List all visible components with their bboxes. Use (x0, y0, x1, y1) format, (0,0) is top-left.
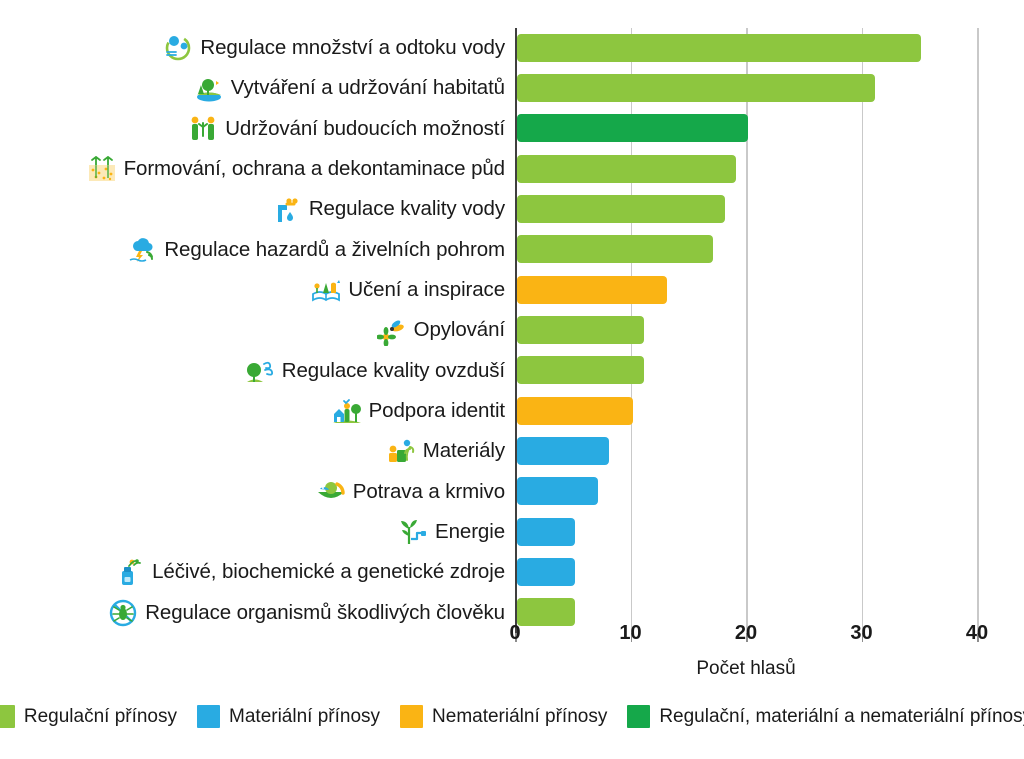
energy-icon (398, 517, 428, 547)
legend-swatch-vse (627, 705, 650, 728)
legend-label-nematerialni: Nemateriální přínosy (432, 706, 607, 728)
category-label-text: Učení a inspirace (348, 280, 505, 301)
category-label-text: Vytváření a udržování habitatů (231, 78, 505, 99)
category-label: Léčivé, biochemické a genetické zdroje (115, 554, 505, 591)
chart-row: Materiály (0, 433, 1024, 470)
chart-row: Regulace organismů škodlivých člověku (0, 594, 1024, 631)
bar[interactable] (517, 437, 609, 465)
category-label: Regulace kvality ovzduší (245, 352, 505, 389)
water-quality-icon (272, 195, 302, 225)
chart-row: Vytváření a udržování habitatů (0, 70, 1024, 107)
bar[interactable] (517, 598, 575, 626)
legend-item-regulacni[interactable]: Regulační přínosy (0, 705, 177, 728)
chart-row: Učení a inspirace (0, 272, 1024, 309)
chart-row: Energie (0, 514, 1024, 551)
materials-icon (386, 437, 416, 467)
chart-row: Regulace kvality ovzduší (0, 352, 1024, 389)
category-label-text: Materiály (423, 441, 505, 462)
category-label: Udržování budoucích možností (188, 110, 505, 147)
category-label-text: Regulace množství a odtoku vody (200, 38, 505, 59)
category-label-text: Potrava a krmivo (353, 482, 505, 503)
air-quality-icon (245, 356, 275, 386)
food-feed-icon (316, 477, 346, 507)
category-label-text: Opylování (414, 320, 505, 341)
category-label: Regulace množství a odtoku vody (163, 30, 505, 67)
bar[interactable] (517, 34, 921, 62)
category-label-text: Formování, ochrana a dekontaminace půd (124, 159, 505, 180)
soil-icon (87, 154, 117, 184)
bar[interactable] (517, 558, 575, 586)
legend-swatch-regulacni (0, 705, 15, 728)
chart-legend: Regulační přínosyMateriální přínosyNemat… (0, 705, 1024, 728)
category-label: Materiály (386, 433, 505, 470)
legend-label-vse: Regulační, materiální a nemateriální pří… (659, 706, 1024, 728)
category-label: Formování, ochrana a dekontaminace půd (87, 151, 505, 188)
bar[interactable] (517, 235, 713, 263)
category-label: Učení a inspirace (311, 272, 505, 309)
chart-row: Formování, ochrana a dekontaminace půd (0, 151, 1024, 188)
chart-row: Regulace množství a odtoku vody (0, 30, 1024, 67)
x-axis-title: Počet hlasů (515, 658, 977, 680)
bar[interactable] (517, 74, 875, 102)
category-label: Podpora identit (332, 393, 505, 430)
legend-item-vse[interactable]: Regulační, materiální a nemateriální pří… (627, 705, 1024, 728)
bar[interactable] (517, 276, 667, 304)
chart-row: Regulace hazardů a živelních pohrom (0, 231, 1024, 268)
category-label: Regulace organismů škodlivých člověku (108, 594, 505, 631)
bar[interactable] (517, 477, 598, 505)
bar[interactable] (517, 316, 644, 344)
category-label: Regulace kvality vody (272, 191, 505, 228)
legend-item-nematerialni[interactable]: Nemateriální přínosy (400, 705, 607, 728)
legend-label-materialni: Materiální přínosy (229, 706, 380, 728)
category-label: Potrava a krmivo (316, 473, 505, 510)
legend-swatch-materialni (197, 705, 220, 728)
water-cycle-icon (163, 33, 193, 63)
category-label: Vytváření a udržování habitatů (194, 70, 505, 107)
chart-row: Regulace kvality vody (0, 191, 1024, 228)
bar[interactable] (517, 356, 644, 384)
chart-row: Opylování (0, 312, 1024, 349)
learning-inspiration-icon (311, 275, 341, 305)
category-label-text: Regulace hazardů a živelních pohrom (164, 240, 505, 261)
future-options-icon (188, 114, 218, 144)
category-label-text: Regulace kvality vody (309, 199, 505, 220)
bar[interactable] (517, 518, 575, 546)
category-label-text: Regulace organismů škodlivých člověku (145, 603, 505, 624)
category-label: Energie (398, 514, 505, 551)
category-label-text: Udržování budoucích možností (225, 119, 505, 140)
bar[interactable] (517, 114, 748, 142)
category-label-text: Regulace kvality ovzduší (282, 361, 505, 382)
bar[interactable] (517, 155, 736, 183)
legend-swatch-nematerialni (400, 705, 423, 728)
identity-support-icon (332, 396, 362, 426)
chart-row: Podpora identit (0, 393, 1024, 430)
category-label-text: Léčivé, biochemické a genetické zdroje (152, 562, 505, 583)
horizontal-bar-chart: Počet hlasů Regulační přínosyMateriální … (0, 0, 1024, 759)
chart-row: Léčivé, biochemické a genetické zdroje (0, 554, 1024, 591)
pollination-icon (377, 316, 407, 346)
medicinal-resources-icon (115, 558, 145, 588)
hazard-regulation-icon (127, 235, 157, 265)
bar[interactable] (517, 195, 725, 223)
category-label: Regulace hazardů a živelních pohrom (127, 231, 505, 268)
legend-label-regulacni: Regulační přínosy (24, 706, 177, 728)
bar[interactable] (517, 397, 633, 425)
pest-regulation-icon (108, 598, 138, 628)
habitat-icon (194, 74, 224, 104)
chart-row: Udržování budoucích možností (0, 110, 1024, 147)
category-label-text: Energie (435, 522, 505, 543)
category-label-text: Podpora identit (369, 401, 505, 422)
chart-row: Potrava a krmivo (0, 473, 1024, 510)
category-label: Opylování (377, 312, 505, 349)
legend-item-materialni[interactable]: Materiální přínosy (197, 705, 380, 728)
